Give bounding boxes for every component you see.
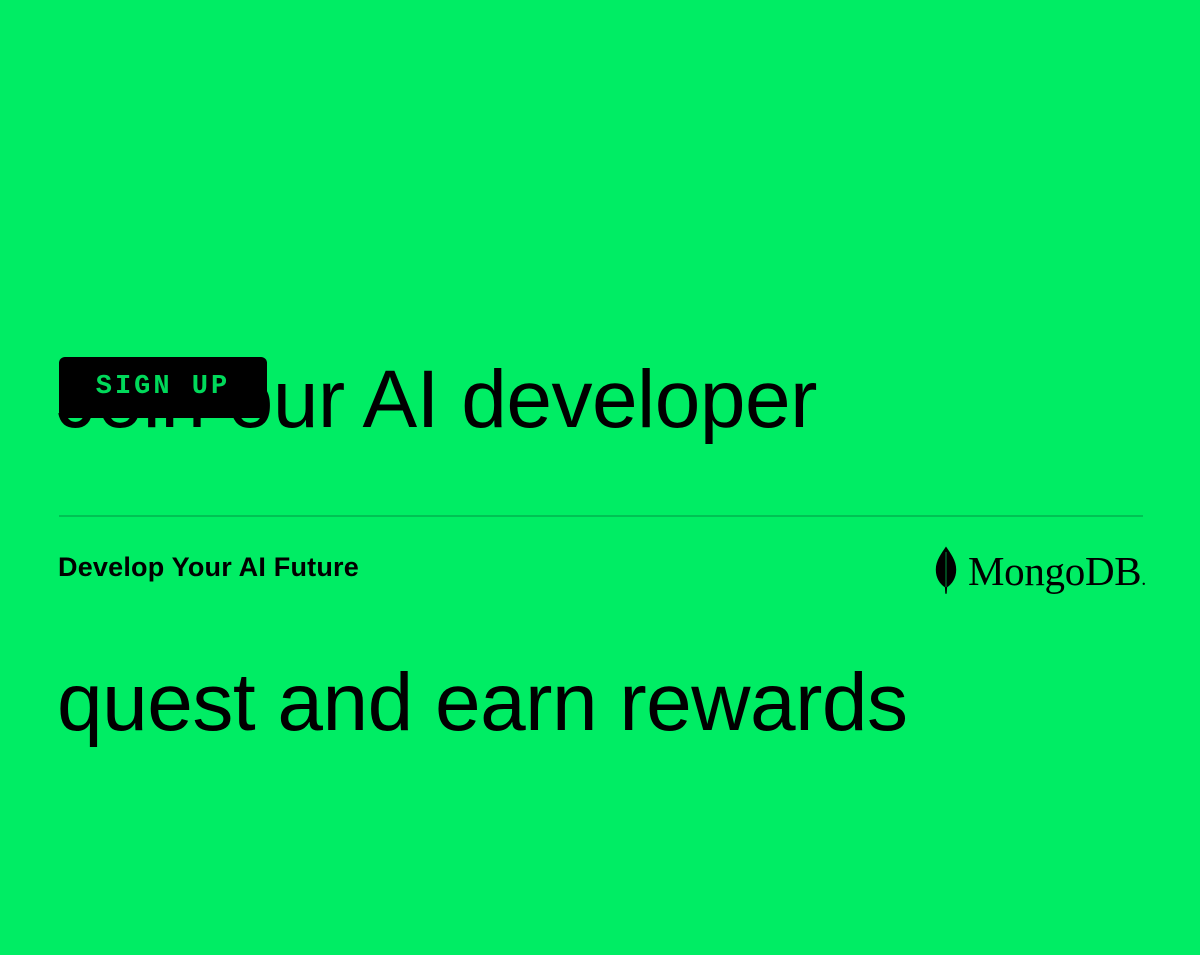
mongodb-wordmark-text: MongoDB	[968, 548, 1141, 594]
mongodb-logo-lockup: MongoDB.	[933, 544, 1146, 596]
sign-up-button[interactable]: SIGN UP	[59, 357, 267, 418]
horizontal-divider	[59, 515, 1143, 517]
headline-line-2: quest and earn rewards	[57, 652, 1147, 753]
tagline: Develop Your AI Future	[58, 550, 359, 584]
mongodb-trailing-mark: .	[1141, 568, 1146, 590]
mongodb-leaf-icon	[933, 546, 959, 594]
mongodb-wordmark: MongoDB.	[968, 551, 1146, 592]
sign-up-button-label: SIGN UP	[96, 374, 230, 401]
mongodb-promo-banner: Join our AI developer quest and earn rew…	[0, 0, 1200, 646]
banner-footer: Develop Your AI Future MongoDB.	[0, 540, 1200, 600]
